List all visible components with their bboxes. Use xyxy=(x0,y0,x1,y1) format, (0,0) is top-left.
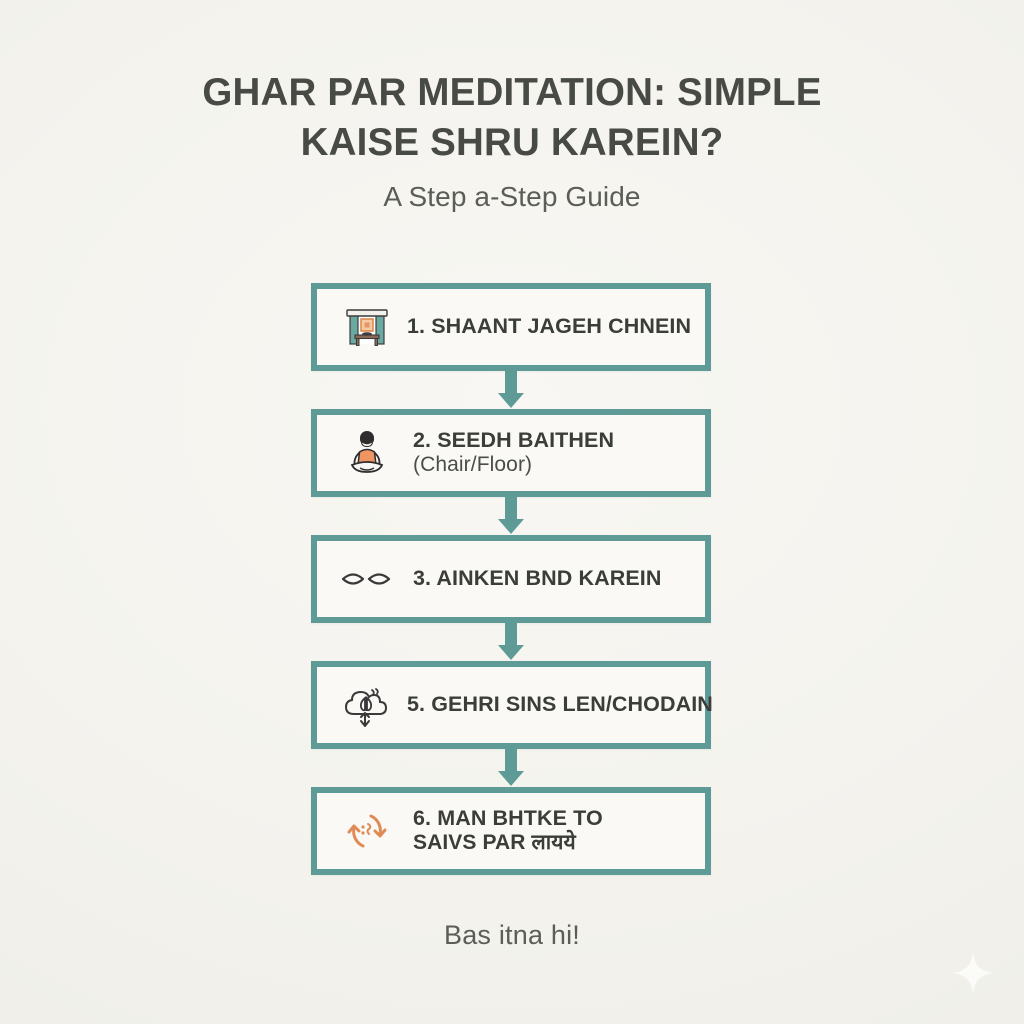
closed-eyes-icon xyxy=(339,551,395,607)
step-label-5: 6. MAN BHTKE TO SAIVS PAR लायये xyxy=(407,806,603,856)
page-subtitle: A Step a-Step Guide xyxy=(110,181,914,213)
connector-head-2 xyxy=(498,519,524,534)
step-wrap-2: 2. SEEDH BAITHEN (Chair/Floor) xyxy=(311,409,711,535)
refresh-loop-icon xyxy=(339,803,395,859)
step-label-3: 3. AINKEN BND KAREIN xyxy=(407,566,661,591)
step-wrap-5: 6. MAN BHTKE TO SAIVS PAR लायये xyxy=(311,787,711,875)
step-box-5[interactable]: 6. MAN BHTKE TO SAIVS PAR लायये xyxy=(311,787,711,875)
step-line1-1: 1. SHAANT JAGEH CHNEIN xyxy=(407,314,691,339)
step-line2-5: SAIVS PAR लायये xyxy=(413,831,603,856)
step-line2-2: (Chair/Floor) xyxy=(413,453,614,478)
connector-arrow-4 xyxy=(311,749,711,787)
step-line1-2: 2. SEEDH BAITHEN xyxy=(413,428,614,453)
connector-head-1 xyxy=(498,393,524,408)
title-line-2: KAISE SHRU KAREIN? xyxy=(110,118,914,168)
connector-stem-1 xyxy=(505,371,517,395)
header: GHAR PAR MEDITATION: SIMPLE KAISE SHRU K… xyxy=(0,68,1024,213)
shrine-room-icon xyxy=(339,299,395,355)
meditating-person-icon xyxy=(339,425,395,481)
connector-stem-2 xyxy=(505,497,517,521)
infographic-page: GHAR PAR MEDITATION: SIMPLE KAISE SHRU K… xyxy=(0,0,1024,1024)
sparkle-icon xyxy=(950,950,996,996)
step-label-1: 1. SHAANT JAGEH CHNEIN xyxy=(407,314,691,339)
connector-stem-4 xyxy=(505,749,517,773)
step-wrap-3: 3. AINKEN BND KAREIN xyxy=(311,535,711,661)
connector-arrow-3 xyxy=(311,623,711,661)
connector-head-3 xyxy=(498,645,524,660)
step-box-3[interactable]: 3. AINKEN BND KAREIN xyxy=(311,535,711,623)
connector-arrow-2 xyxy=(311,497,711,535)
steps-flowchart: 1. SHAANT JAGEH CHNEIN xyxy=(311,283,711,875)
step-line1-4: 5. GEHRI SINS LEN/CHODAIN xyxy=(407,692,713,717)
connector-stem-3 xyxy=(505,623,517,647)
step-label-2: 2. SEEDH BAITHEN (Chair/Floor) xyxy=(407,428,614,478)
step-box-1[interactable]: 1. SHAANT JAGEH CHNEIN xyxy=(311,283,711,371)
footer-note: Bas itna hi! xyxy=(0,920,1024,951)
breathing-cloud-icon xyxy=(339,677,395,733)
step-line1-3: 3. AINKEN BND KAREIN xyxy=(413,566,661,591)
step-wrap-4: 5. GEHRI SINS LEN/CHODAIN xyxy=(311,661,711,787)
page-title: GHAR PAR MEDITATION: SIMPLE KAISE SHRU K… xyxy=(110,68,914,168)
step-wrap-1: 1. SHAANT JAGEH CHNEIN xyxy=(311,283,711,409)
step-box-4[interactable]: 5. GEHRI SINS LEN/CHODAIN xyxy=(311,661,711,749)
step-label-4: 5. GEHRI SINS LEN/CHODAIN xyxy=(407,692,713,717)
connector-arrow-1 xyxy=(311,371,711,409)
title-line-1: GHAR PAR MEDITATION: SIMPLE xyxy=(110,68,914,118)
step-line1-5: 6. MAN BHTKE TO xyxy=(413,806,603,831)
connector-head-4 xyxy=(498,771,524,786)
step-box-2[interactable]: 2. SEEDH BAITHEN (Chair/Floor) xyxy=(311,409,711,497)
